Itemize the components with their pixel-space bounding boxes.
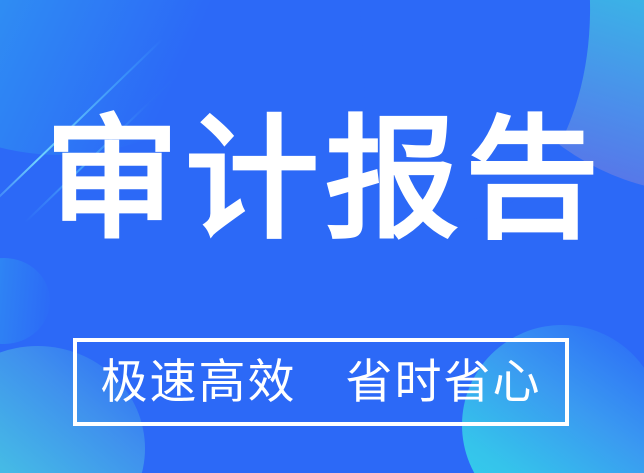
blob-left-middle-decoration xyxy=(0,258,50,344)
tagline-text: 极速高效 省时省心 xyxy=(101,359,542,406)
tagline-box: 极速高效 省时省心 xyxy=(73,338,569,426)
poster-headline: 审计报告 xyxy=(0,112,644,246)
poster-canvas: 审计报告 极速高效 省时省心 xyxy=(0,0,644,473)
